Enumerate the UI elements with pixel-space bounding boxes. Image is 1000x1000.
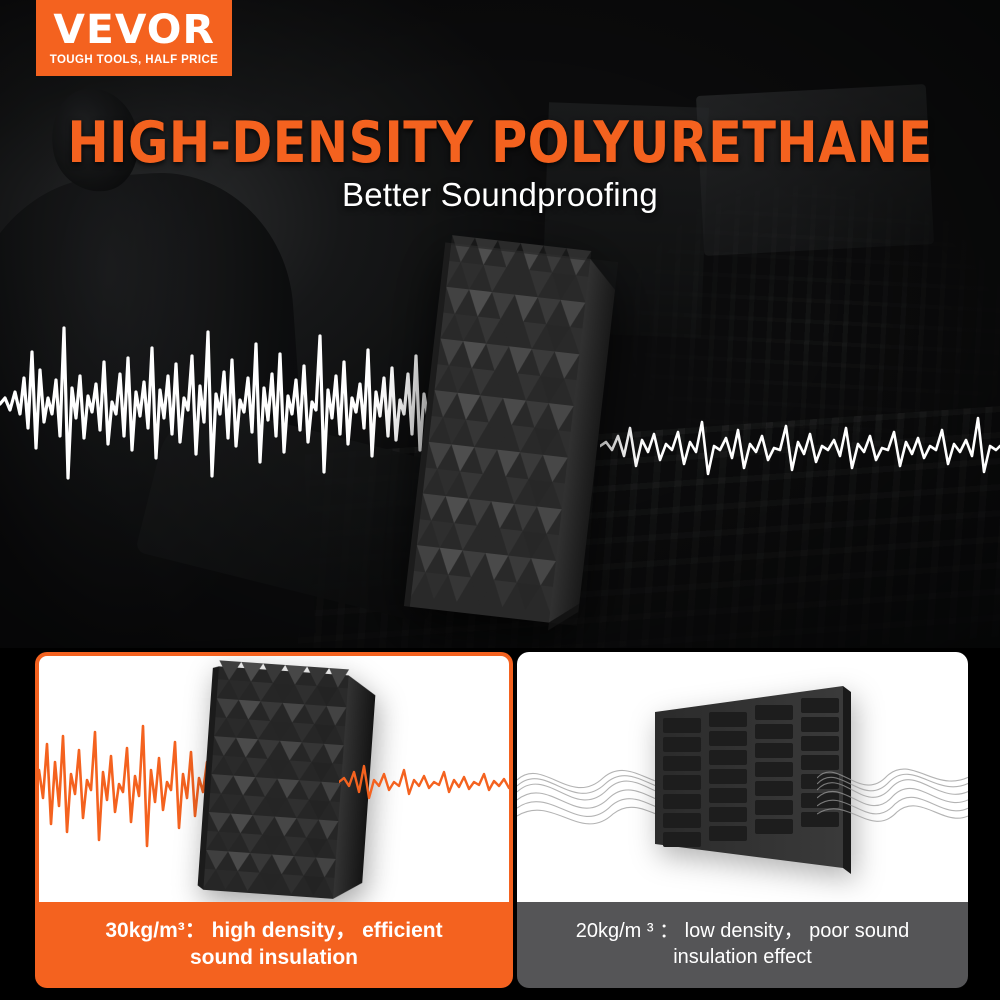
caption-low-density-line1: 20kg/m ³ ： low density， poor sound — [576, 920, 910, 942]
caption-low-density-line2: insulation effect — [673, 946, 812, 968]
comparison-section: 30kg/m³： high density， efficient sound i… — [0, 648, 1000, 1000]
caption-high-density-line1: 30kg/m³： high density， efficient — [105, 919, 442, 942]
sound-waveform-loud-icon — [0, 318, 440, 488]
product-marketing-image: VEVOR TOUGH TOOLS, HALF PRICE HIGH-DENSI… — [0, 0, 1000, 1000]
caption-low-density: 20kg/m ³ ： low density， poor sound insul… — [517, 902, 968, 988]
page-subtitle: Better Soundproofing — [0, 176, 1000, 214]
smoke-wave-gray-right-icon — [817, 730, 968, 860]
vevor-logo[interactable]: VEVOR TOUGH TOOLS, HALF PRICE — [36, 0, 232, 76]
caption-high-density-line2: sound insulation — [190, 946, 358, 969]
comparison-card-low-density — [517, 652, 968, 902]
sound-waveform-damped-icon — [600, 392, 1000, 500]
waveform-orange-damped-icon — [339, 744, 513, 820]
hero-section: VEVOR TOUGH TOOLS, HALF PRICE HIGH-DENSI… — [0, 0, 1000, 648]
logo-wordmark: VEVOR — [53, 10, 215, 50]
page-title: HIGH-DENSITY POLYURETHANE — [20, 110, 980, 176]
caption-high-density: 30kg/m³： high density， efficient sound i… — [35, 902, 513, 988]
comparison-card-high-density — [35, 652, 513, 902]
logo-tagline: TOUGH TOOLS, HALF PRICE — [50, 55, 219, 67]
